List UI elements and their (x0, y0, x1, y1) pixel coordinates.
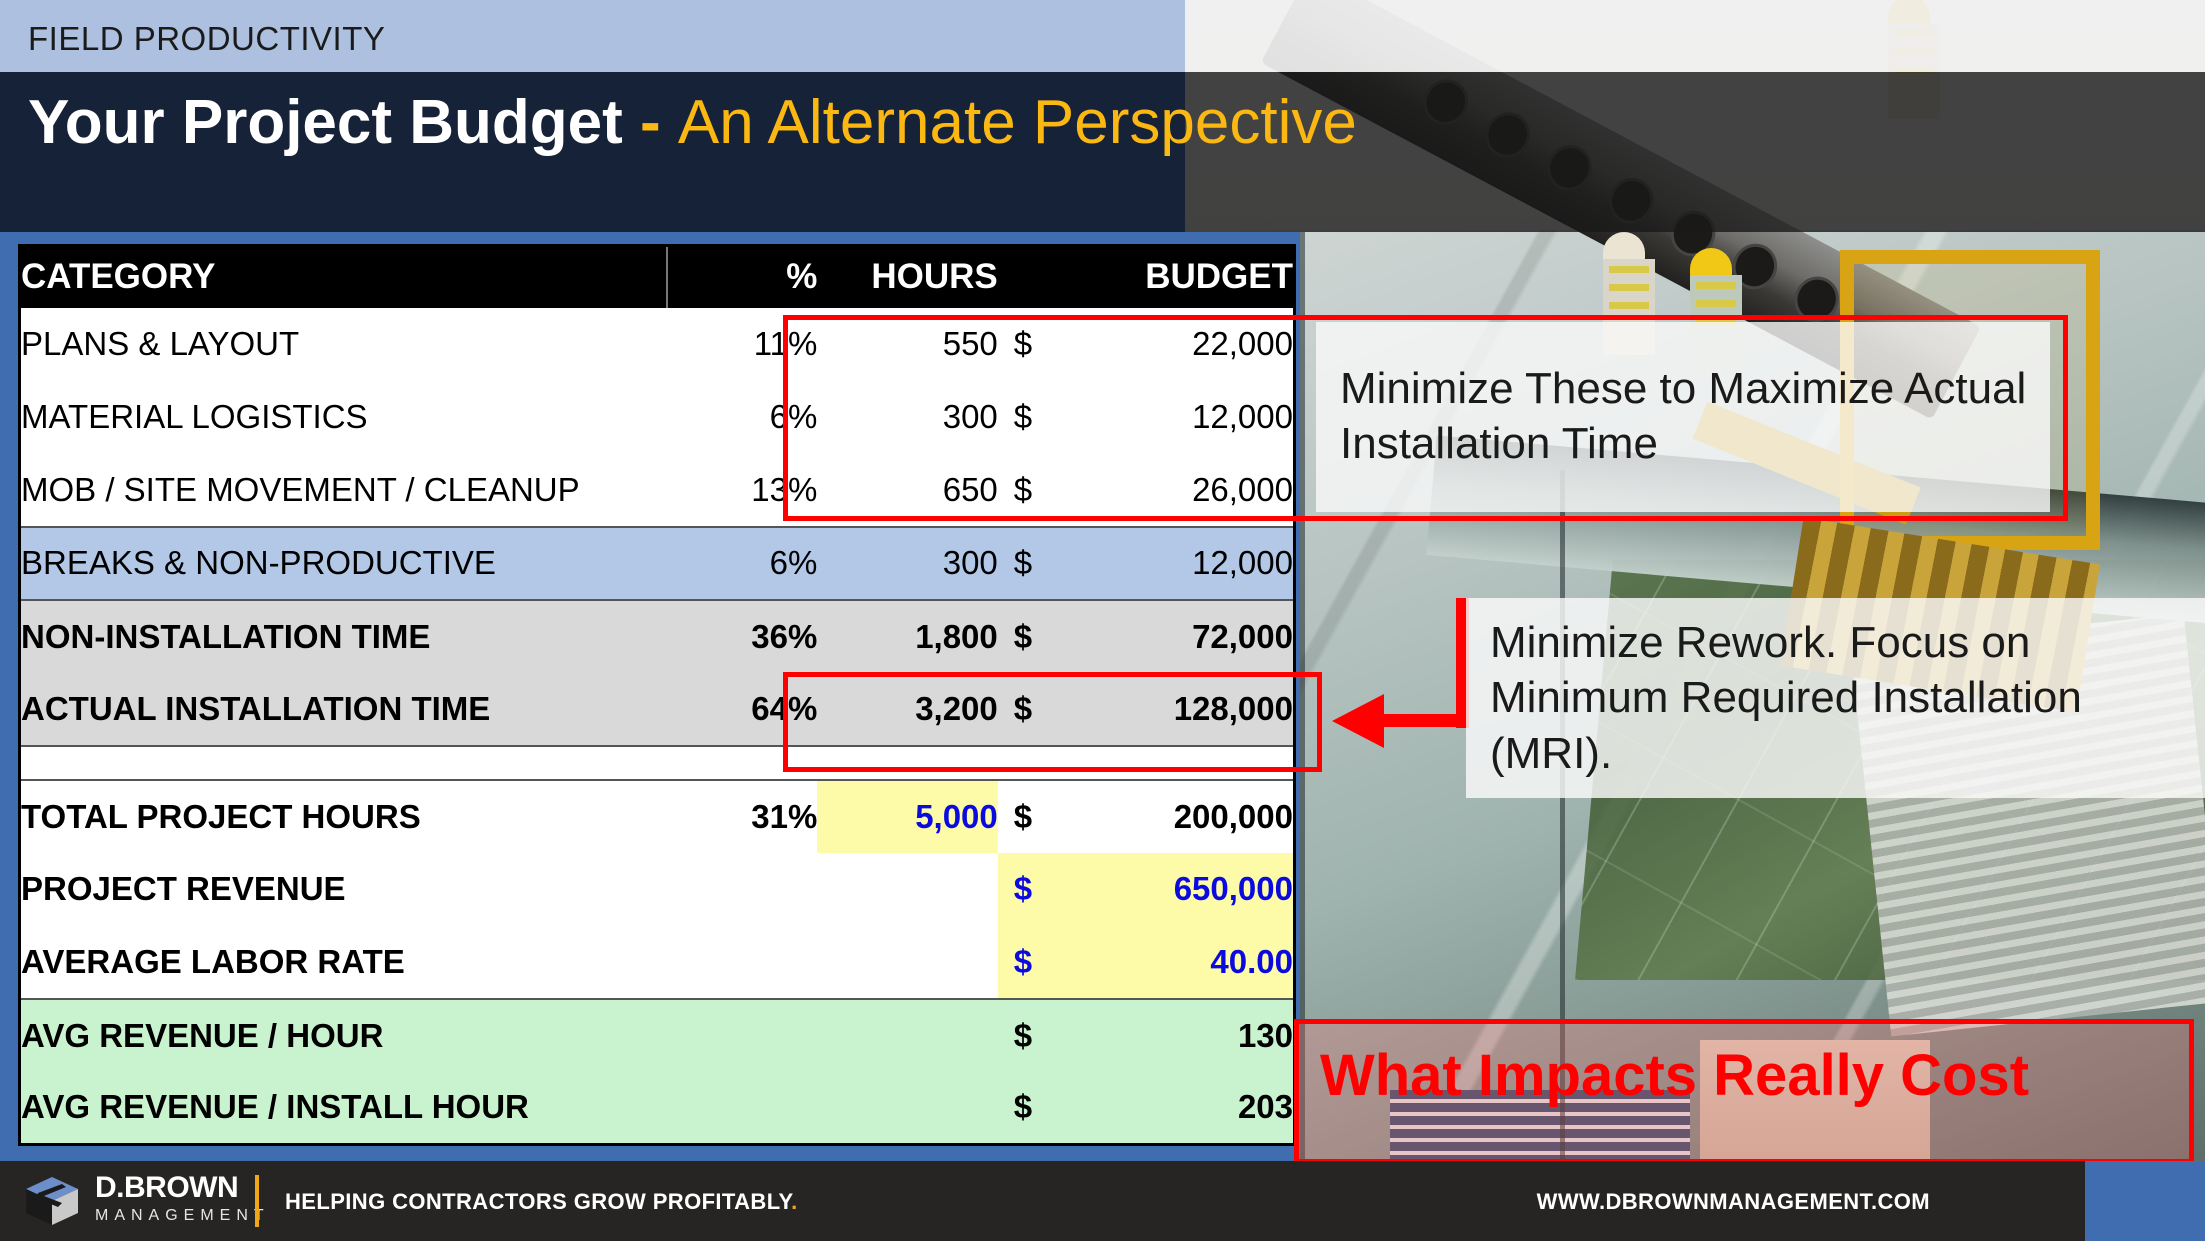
currency-symbol: $ (1014, 870, 1032, 908)
cell-percent (667, 926, 817, 999)
cell-budget-value: 12,000 (1192, 544, 1293, 581)
cell-budget-highlighted: $650,000 (998, 853, 1295, 926)
col-header-budget: BUDGET (998, 246, 1295, 308)
dbrown-logo-icon (22, 1175, 82, 1227)
table-row[interactable]: NON-INSTALLATION TIME 36% 1,800 $72,000 (20, 600, 1295, 673)
col-header-category: CATEGORY (20, 246, 668, 308)
cell-budget: $72,000 (998, 600, 1295, 673)
callout-impacts-cost-text: What Impacts Really Cost (1320, 1042, 2180, 1109)
cell-budget-value: 72,000 (1192, 618, 1293, 655)
footer-tagline-dot: . (791, 1189, 798, 1214)
callout-arrow-head-icon (1332, 694, 1384, 748)
currency-symbol: $ (1014, 1017, 1032, 1055)
eyebrow-label: FIELD PRODUCTIVITY (28, 20, 385, 58)
page-title: Your Project Budget - An Alternate Persp… (28, 92, 1357, 154)
cell-hours: 1,800 (817, 600, 997, 673)
cell-hours (817, 926, 997, 999)
cell-hours (817, 1072, 997, 1145)
callout-minimize-rework-text: Minimize Rework. Focus on Minimum Requir… (1490, 615, 2205, 781)
cell-budget: $130 (998, 999, 1295, 1072)
cell-budget: $203 (998, 1072, 1295, 1145)
table-row[interactable]: TOTAL PROJECT HOURS 31% 5,000 $200,000 (20, 780, 1295, 853)
spacer-cell (20, 746, 668, 780)
currency-symbol: $ (1014, 544, 1032, 582)
footer-tagline-text: HELPING CONTRACTORS GROW PROFITABLY (285, 1189, 791, 1214)
cell-category: NON-INSTALLATION TIME (20, 600, 668, 673)
cell-hours (817, 853, 997, 926)
table-row[interactable]: BREAKS & NON-PRODUCTIVE 6% 300 $12,000 (20, 527, 1295, 600)
footer-divider (255, 1175, 259, 1227)
cell-percent (667, 853, 817, 926)
callout-arrow-stem (1380, 714, 1466, 727)
cell-category: PROJECT REVENUE (20, 853, 668, 926)
table-header-row: CATEGORY % HOURS BUDGET (20, 246, 1295, 308)
footer-bar: D.BROWN MANAGEMENT HELPING CONTRACTORS G… (0, 1161, 2085, 1241)
slide-root: FIELD PRODUCTIVITY Your Project Budget -… (0, 0, 2205, 1241)
table-row[interactable]: AVG REVENUE / HOUR $130 (20, 999, 1295, 1072)
page-title-bold: Your Project Budget (28, 88, 623, 157)
footer-tagline: HELPING CONTRACTORS GROW PROFITABLY. (285, 1189, 798, 1215)
col-header-percent: % (667, 246, 817, 308)
cell-category: AVG REVENUE / HOUR (20, 999, 668, 1072)
cell-percent: 31% (667, 780, 817, 853)
cell-percent (667, 1072, 817, 1145)
cell-budget-highlighted: $40.00 (998, 926, 1295, 999)
cell-category: PLANS & LAYOUT (20, 308, 668, 381)
cell-hours: 300 (817, 527, 997, 600)
brand-name: D.BROWN (95, 1173, 270, 1203)
page-title-dash: - (623, 88, 678, 157)
currency-symbol: $ (1014, 798, 1032, 836)
cell-budget-value: 200,000 (1174, 798, 1293, 835)
cell-budget: $12,000 (998, 527, 1295, 600)
cell-hours (817, 999, 997, 1072)
brand-wordmark: D.BROWN MANAGEMENT (95, 1173, 270, 1229)
cell-hours-highlighted: 5,000 (817, 780, 997, 853)
currency-symbol: $ (1014, 618, 1032, 656)
cell-category: MOB / SITE MOVEMENT / CLEANUP (20, 454, 668, 527)
footer-right-accent (2085, 1161, 2205, 1241)
currency-symbol: $ (1014, 943, 1032, 981)
cell-category: BREAKS & NON-PRODUCTIVE (20, 527, 668, 600)
footer-website: WWW.DBROWNMANAGEMENT.COM (1537, 1189, 1930, 1215)
cell-category: AVERAGE LABOR RATE (20, 926, 668, 999)
cell-category: AVG REVENUE / INSTALL HOUR (20, 1072, 668, 1145)
cell-percent: 36% (667, 600, 817, 673)
cell-percent: 6% (667, 527, 817, 600)
cell-budget: $200,000 (998, 780, 1295, 853)
cell-percent (667, 999, 817, 1072)
cell-budget-value: 650,000 (1174, 870, 1293, 907)
cell-hours-value: 5,000 (915, 798, 998, 835)
callout-minimize-rework: Minimize Rework. Focus on Minimum Requir… (1466, 598, 2205, 798)
highlight-box-actual-install (783, 672, 1322, 772)
callout-minimize-nonproductive-text: Minimize These to Maximize Actual Instal… (1340, 362, 2050, 471)
cell-budget-value: 130 (1238, 1017, 1293, 1054)
brand-subtitle: MANAGEMENT (95, 1203, 270, 1229)
cell-category: MATERIAL LOGISTICS (20, 381, 668, 454)
table-row[interactable]: AVERAGE LABOR RATE $40.00 (20, 926, 1295, 999)
callout-minimize-nonproductive: Minimize These to Maximize Actual Instal… (1316, 322, 2050, 512)
cell-category: ACTUAL INSTALLATION TIME (20, 673, 668, 746)
currency-symbol: $ (1014, 1088, 1032, 1126)
cell-category: TOTAL PROJECT HOURS (20, 780, 668, 853)
table-row[interactable]: AVG REVENUE / INSTALL HOUR $203 (20, 1072, 1295, 1145)
cell-budget-value: 203 (1238, 1088, 1293, 1125)
table-row[interactable]: PROJECT REVENUE $650,000 (20, 853, 1295, 926)
col-header-hours: HOURS (817, 246, 997, 308)
page-title-accent: An Alternate Perspective (678, 88, 1357, 157)
cell-budget-value: 40.00 (1210, 943, 1293, 980)
